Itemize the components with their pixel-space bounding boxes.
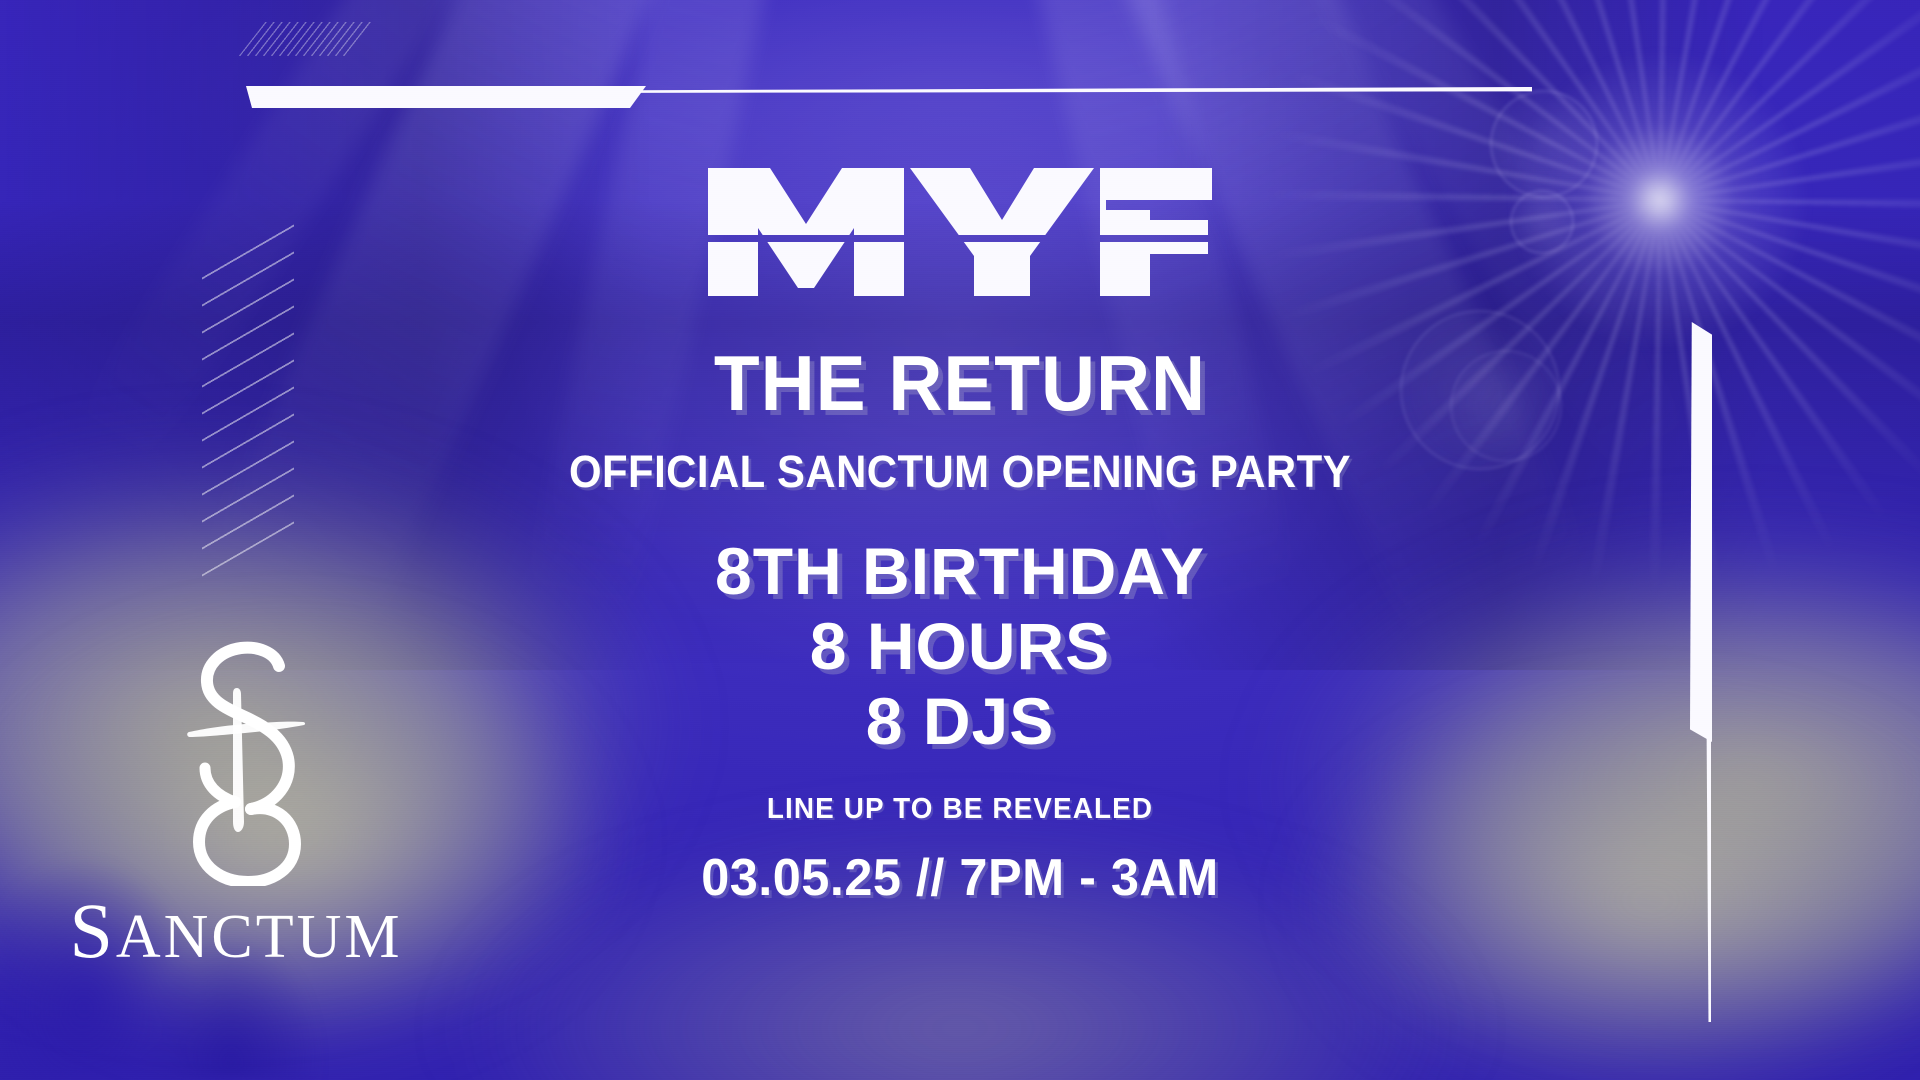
horizontal-rule-icon — [246, 84, 1532, 110]
vertical-rule-icon — [1690, 322, 1726, 1022]
subtitle: OFFICIAL SANCTUM OPENING PARTY — [309, 446, 1611, 498]
headline-block: THE RETURN OFFICIAL SANCTUM OPENING PART… — [260, 344, 1660, 908]
sanctum-initial: S — [69, 887, 115, 974]
highlight-birthday: 8TH BIRTHDAY — [260, 534, 1660, 609]
highlight-djs: 8 DJS — [260, 684, 1660, 759]
lineup-note: LINE UP TO BE REVEALED — [288, 793, 1632, 826]
highlight-hours: 8 HOURS — [260, 609, 1660, 684]
sanctum-s-monogram-icon — [151, 636, 321, 886]
sanctum-rest: ANCTUM — [116, 903, 403, 971]
sanctum-wordmark: SANCTUM — [69, 892, 402, 970]
event-poster: THE RETURN OFFICIAL SANCTUM OPENING PART… — [0, 0, 1920, 1080]
page-title: THE RETURN — [288, 344, 1632, 424]
myf-logo — [702, 162, 1218, 302]
highlights-block: 8TH BIRTHDAY 8 HOURS 8 DJS — [260, 534, 1660, 760]
sanctum-logo: SANCTUM — [60, 636, 412, 970]
date-time: 03.05.25 // 7PM - 3AM — [281, 848, 1639, 908]
